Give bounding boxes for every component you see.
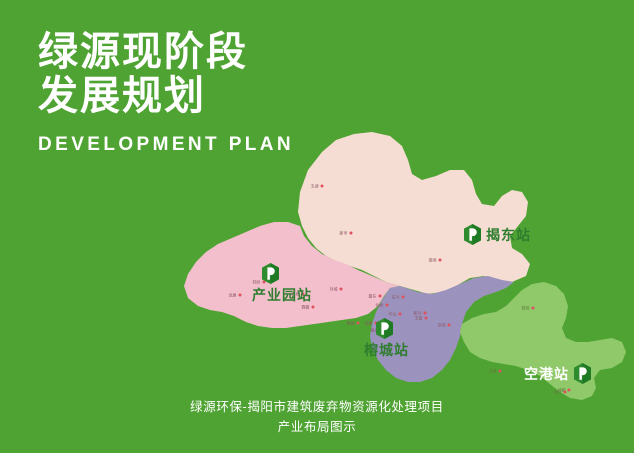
city-marker: 龙尾	[229, 293, 242, 298]
city-marker: 新亨	[340, 231, 353, 236]
station-marker-konggang[interactable]: 空港站	[524, 363, 591, 384]
city-marker: 登岗	[522, 306, 535, 311]
city-marker: 新兴	[414, 311, 427, 316]
city-marker: 渔湖	[347, 321, 360, 326]
city-marker-label: 炮台	[554, 390, 562, 395]
city-marker-label: 新兴	[414, 311, 422, 316]
city-marker-label: 龙尾	[229, 293, 237, 298]
city-marker-dot	[357, 322, 360, 325]
green-logo-badge-icon	[574, 363, 591, 384]
city-marker-label: 东兴	[392, 295, 400, 300]
city-marker-dot	[379, 295, 382, 298]
caption-block: 绿源环保-揭阳市建筑废弃物资源化处理项目 产业布局图示	[0, 397, 634, 437]
caption-line-1: 绿源环保-揭阳市建筑废弃物资源化处理项目	[0, 397, 634, 417]
city-marker-dot	[424, 312, 427, 315]
city-marker-label: 玉窖	[415, 316, 423, 321]
city-marker-label: 玉浦	[489, 369, 497, 374]
city-marker-dot	[532, 307, 535, 310]
city-marker-label: 渔湖	[347, 321, 355, 326]
city-marker-dot	[425, 317, 428, 320]
city-marker: 东兴	[392, 295, 405, 300]
city-marker-label: 登岗	[522, 306, 530, 311]
city-marker-dot	[568, 389, 571, 392]
city-marker-dot	[239, 294, 242, 297]
city-marker: 锡场	[429, 258, 442, 263]
city-marker-dot	[321, 185, 324, 188]
page-title-line-2: 发展规划	[38, 74, 294, 118]
city-marker: 玉湖	[311, 184, 324, 189]
city-marker-dot	[499, 370, 502, 373]
city-marker-label: 京冈	[438, 323, 446, 328]
city-marker-dot	[312, 306, 315, 309]
city-marker-label: 新亨	[340, 231, 348, 236]
city-marker: 仙桥	[376, 303, 389, 308]
city-marker-label: 仙桥	[376, 303, 384, 308]
city-marker: 玉窖	[415, 316, 428, 321]
station-marker-rongcheng[interactable]: 榕城站	[364, 318, 409, 360]
page-title-line-1: 绿源现阶段	[38, 30, 294, 74]
title-block: 绿源现阶段 发展规划 DEVELOPMENT PLAN	[38, 30, 294, 156]
city-marker-label: 玉湖	[311, 184, 319, 189]
city-marker-label: 锡场	[429, 258, 437, 263]
city-marker-dot	[402, 296, 405, 299]
station-label-konggang: 空港站	[524, 364, 569, 384]
slide-canvas: 绿源现阶段 发展规划 DEVELOPMENT PLAN 揭东站	[0, 0, 634, 453]
green-logo-badge-icon	[376, 318, 393, 339]
city-marker-label: 中山	[389, 312, 397, 317]
station-marker-jiedong[interactable]: 揭东站	[464, 224, 531, 245]
green-logo-badge-icon	[262, 263, 279, 284]
city-marker-dot	[340, 288, 343, 291]
station-marker-chanyeyuan[interactable]: 产业园站	[252, 263, 312, 305]
city-marker: 月城	[330, 287, 343, 292]
station-label-chanyeyuan: 产业园站	[252, 285, 312, 305]
green-logo-badge-icon	[464, 224, 481, 245]
page-subtitle: DEVELOPMENT PLAN	[38, 134, 294, 156]
city-marker-dot	[448, 324, 451, 327]
city-marker-dot	[439, 259, 442, 262]
city-marker-dot	[399, 313, 402, 316]
city-marker: 霖磐	[302, 305, 315, 310]
city-marker-label: 磐东	[369, 294, 377, 299]
city-marker: 炮台	[554, 390, 567, 395]
city-marker-label: 霖磐	[302, 305, 310, 310]
city-marker-label: 月城	[330, 287, 338, 292]
city-marker: 磐东	[369, 294, 382, 299]
city-marker: 京冈	[438, 323, 451, 328]
station-label-rongcheng: 榕城站	[364, 340, 409, 360]
city-marker: 玉浦	[489, 369, 502, 374]
city-marker-dot	[564, 391, 567, 394]
city-marker: 中山	[389, 312, 402, 317]
caption-line-2: 产业布局图示	[0, 417, 634, 437]
city-marker-dot	[386, 304, 389, 307]
city-marker-dot	[350, 232, 353, 235]
station-label-jiedong: 揭东站	[486, 225, 531, 245]
